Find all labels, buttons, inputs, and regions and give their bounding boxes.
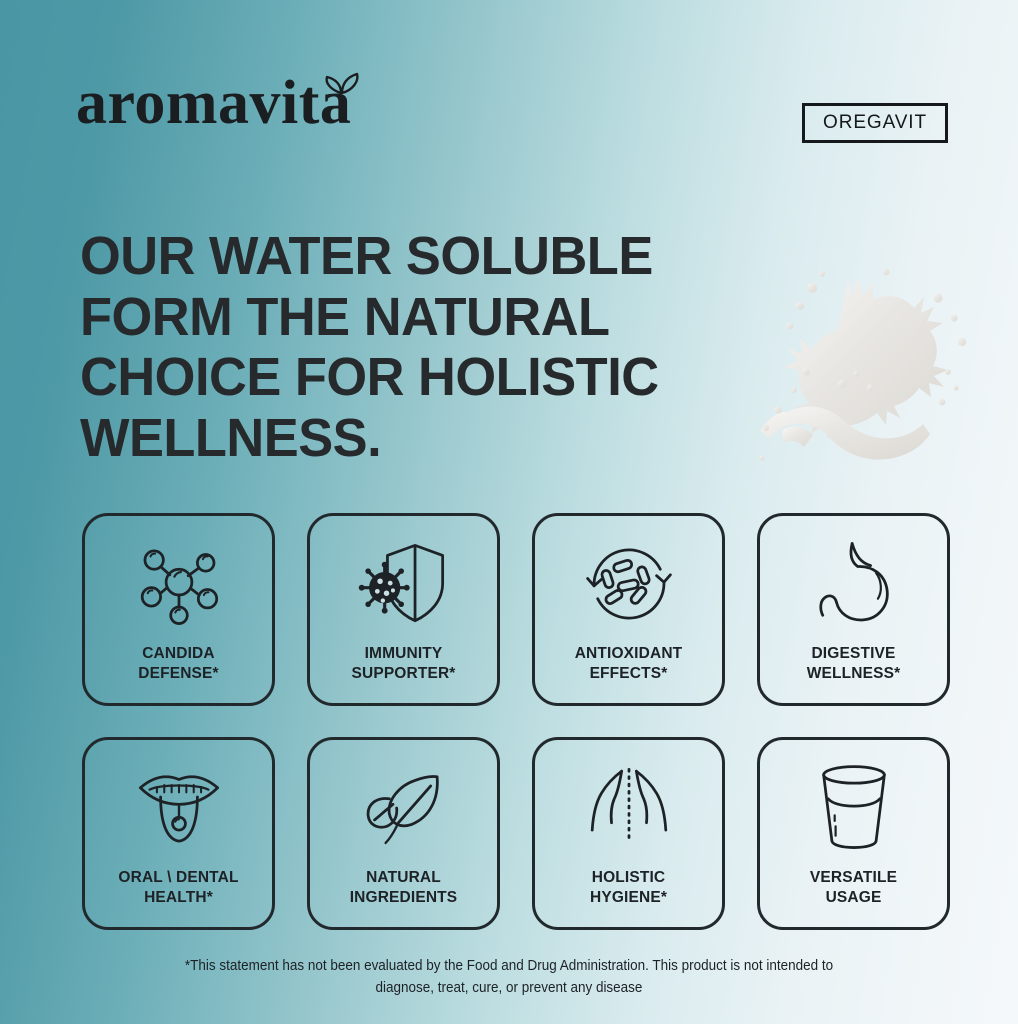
feature-label: HOLISTIC HYGIENE* bbox=[584, 868, 673, 908]
product-badge: OREGAVIT bbox=[802, 103, 948, 143]
water-glass-icon bbox=[808, 762, 900, 854]
mouth-tongue-icon bbox=[133, 762, 225, 854]
page-title: OUR WATER SOLUBLE FORM THE NATURAL CHOIC… bbox=[80, 226, 749, 468]
feature-label: VERSATILE USAGE bbox=[804, 868, 903, 908]
fda-disclaimer: *This statement has not been evaluated b… bbox=[156, 955, 863, 1000]
brand-logo: aromavita bbox=[76, 72, 351, 134]
feature-card-candida-defense[interactable]: CANDIDA DEFENSE* bbox=[82, 513, 275, 706]
feature-card-antioxidant-effects[interactable]: ANTIOXIDANT EFFECTS* bbox=[532, 513, 725, 706]
leaves-icon bbox=[358, 762, 450, 854]
milk-splash-graphic bbox=[752, 262, 984, 480]
feature-card-versatile-usage[interactable]: VERSATILE USAGE bbox=[757, 737, 950, 930]
feature-card-digestive-wellness[interactable]: DIGESTIVE WELLNESS* bbox=[757, 513, 950, 706]
stomach-icon bbox=[808, 538, 900, 630]
shield-virus-icon bbox=[358, 538, 450, 630]
feature-label: IMMUNITY SUPPORTER* bbox=[346, 644, 462, 684]
feature-label: NATURAL INGREDIENTS bbox=[344, 868, 464, 908]
leaf-sprout-icon bbox=[320, 66, 364, 96]
feature-card-natural-ingredients[interactable]: NATURAL INGREDIENTS bbox=[307, 737, 500, 930]
feature-card-holistic-hygiene[interactable]: HOLISTIC HYGIENE* bbox=[532, 737, 725, 930]
feature-grid: CANDIDA DEFENSE* bbox=[82, 513, 952, 930]
feature-label: CANDIDA DEFENSE* bbox=[132, 644, 224, 684]
brand-logo-text: aromavita bbox=[76, 69, 351, 137]
feature-card-oral-dental-health[interactable]: ORAL \ DENTAL HEALTH* bbox=[82, 737, 275, 930]
promo-poster: aromavita OREGAVIT OUR WATER SOLUBLE FOR… bbox=[0, 0, 1018, 1024]
feature-label: DIGESTIVE WELLNESS* bbox=[801, 644, 907, 684]
candida-molecule-icon bbox=[133, 538, 225, 630]
feature-label: ANTIOXIDANT EFFECTS* bbox=[569, 644, 689, 684]
antioxidant-cycle-icon bbox=[583, 538, 675, 630]
feature-label: ORAL \ DENTAL HEALTH* bbox=[112, 868, 244, 908]
feature-card-immunity-supporter[interactable]: IMMUNITY SUPPORTER* bbox=[307, 513, 500, 706]
body-torso-icon bbox=[583, 762, 675, 854]
